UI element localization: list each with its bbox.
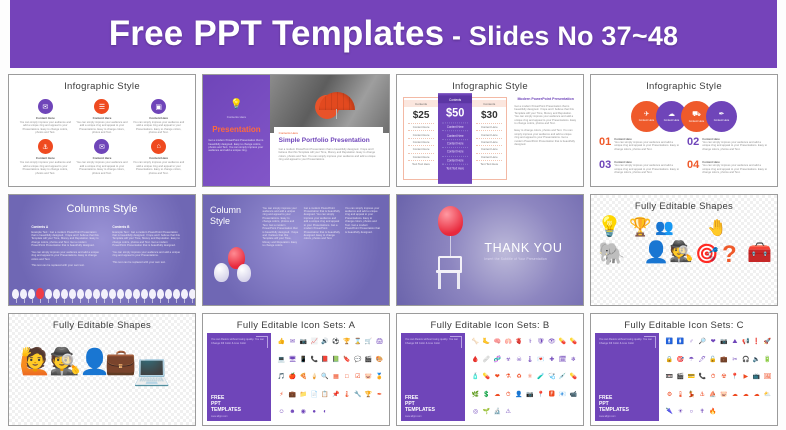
price-row: Content Here (476, 145, 502, 152)
man-with-briefcase-icon: 💼 (105, 350, 136, 375)
icon-cell: 🎯 (677, 357, 684, 363)
corner-decoration (256, 336, 268, 348)
white-balloon-icon (12, 289, 19, 299)
lightbulb-brain-icon: 💡 (597, 217, 622, 237)
price-value: $25 (413, 110, 430, 121)
card-title: Simple Portfolio Presentation (279, 137, 379, 145)
text-column-3: You can simply impress your audience and… (345, 207, 382, 298)
white-balloon-icon (101, 289, 108, 299)
price-row: Content Here (442, 139, 468, 147)
brand-card: You can Resize without losing quality. Y… (595, 333, 659, 421)
balloon-row (12, 283, 192, 299)
icon-cell: 🔎 (698, 339, 705, 345)
icon-cell: 🔬 (494, 409, 501, 415)
icon-cell: 🔈 (753, 357, 760, 363)
white-balloon-icon (53, 289, 60, 299)
icon-cell: 📹 (570, 392, 577, 398)
icon-cell: 📷 (526, 392, 533, 398)
icon-cell: ❤ (495, 374, 500, 380)
price-row: Content Here (442, 131, 468, 139)
infographic-item: ▣ Content HereYou can simply impress you… (130, 99, 187, 139)
icon-cell: 📗 (332, 357, 339, 363)
price-row: Content Here (442, 147, 468, 155)
icon-cell: 🐷 (365, 374, 372, 380)
icon-cell: 🎬 (677, 374, 684, 380)
icon-cell: 🔍 (321, 374, 328, 380)
corner-decoration (450, 336, 462, 348)
people-group-icon: 👥 (655, 220, 674, 235)
slide-title: Infographic Style (397, 81, 583, 92)
icon-cell: 🌡 (677, 392, 685, 398)
pricing-column-featured: Contents $50 Content Here Content Here C… (438, 93, 472, 183)
white-balloon-icon (133, 289, 140, 299)
icon-cell: 💊 (570, 374, 577, 380)
icon-cell: 📺 (753, 374, 760, 380)
side-caption: Contents Here (203, 115, 270, 119)
lightbulb-icon: 💡 (230, 99, 242, 110)
column-b-body2: You can simply impress your audience and… (112, 251, 180, 258)
icon-cell: 📧 (559, 392, 566, 398)
numbered-item: 04 Content HereYou can simply impress yo… (687, 160, 769, 181)
side-word: Presentation (203, 125, 270, 134)
title-line-2: Style (210, 216, 241, 227)
icon-cell: 🔋 (764, 357, 771, 363)
icon-cell: 🍦 (310, 374, 317, 380)
white-balloon-icon (141, 289, 148, 299)
slide-thumbnail-fully-editable-icon-sets-b[interactable]: Fully Editable Icon Sets: B You can Resi… (396, 313, 584, 426)
column-a-body2: You can simply impress your audience and… (31, 251, 99, 261)
icon-cell: 🧠 (494, 339, 501, 345)
home-icon: ⌂ (151, 139, 166, 154)
price-row: Text Text Here (476, 160, 502, 167)
icon-cell: 👍 (278, 339, 285, 345)
chat-icon: ✉ (38, 99, 53, 114)
mail-icon: ✉ (94, 139, 109, 154)
anchor-icon: ⚓ (38, 139, 53, 154)
slide-grid: Infographic Style ✉ Content HereYou can … (8, 74, 778, 426)
item-body: You can simply impress your audience and… (76, 161, 128, 175)
icon-cell: 💼 (720, 357, 727, 363)
businessman-icon: 👤 (643, 242, 669, 263)
icon-cell: 🫀 (515, 339, 522, 345)
portfolio-side-panel: 💡 Contents Here Presentation Get a moder… (203, 75, 270, 186)
item-body: You can simply impress your audience and… (614, 164, 681, 174)
slide-title: Fully Editable Shapes (591, 201, 777, 212)
icon-cell: ☢ (721, 374, 726, 380)
item-body: You can simply impress your audience and… (702, 164, 769, 174)
price-value: $30 (481, 110, 498, 121)
icon-cell: 📞 (310, 357, 317, 363)
icon-cell: 🛒 (365, 339, 372, 345)
column-b-body3: This text can be replaced with your own … (112, 261, 180, 264)
thank-you-subtitle: Insert the Subtitle of Your Presentation (484, 257, 562, 261)
icon-cell: 🌂 (666, 409, 673, 415)
icon-cell: ✝ (700, 409, 705, 415)
white-balloon-icon (61, 289, 68, 299)
column-b-head: Contents B (112, 225, 180, 229)
icon-cell: 💬 (354, 357, 361, 363)
white-balloon-icon (77, 289, 84, 299)
icon-cell: ☀ (678, 409, 683, 415)
slide-thumbnail-infographic-style-pricing[interactable]: Infographic Style Contents $25 Content H… (396, 74, 584, 187)
white-balloon-icon (109, 289, 116, 299)
text-column-1: You can simply impress your audience and… (263, 207, 300, 298)
icon-cell: 📕 (321, 357, 328, 363)
pricing-table: Contents $25 Content Here Content Here C… (403, 97, 507, 180)
chair-icon (436, 256, 462, 289)
white-balloon-icon (214, 263, 229, 282)
icon-cell: 🛡 (537, 339, 545, 345)
column-a-body: Example Text : Get a modern PowerPoint P… (31, 231, 99, 248)
icon-cell: 🩺 (548, 374, 555, 380)
pricing-side-text: Modern PowerPoint Presentation Get a mod… (511, 97, 577, 180)
item-label: Content Here (19, 156, 71, 160)
icon-cell: ✚ (549, 357, 554, 363)
icon-cell: 🔊 (321, 339, 328, 345)
column-header: Contents (472, 100, 506, 107)
brand-line-3: TEMPLATES (405, 407, 435, 413)
icon-cell: ♻ (516, 374, 521, 380)
icon-cell: 🦶 (483, 339, 490, 345)
slide-thumbnail-thank-you[interactable]: THANK YOU Insert the Subtitle of Your Pr… (396, 194, 584, 307)
page-title: Free PPT Templates - Slides No 37~48 (109, 14, 679, 54)
slide-thumbnail-simple-portfolio-presentation[interactable]: 💡 Contents Here Presentation Get a moder… (202, 74, 390, 187)
icon-cell: ⌛ (354, 339, 361, 345)
circle-row: ✈Content Here ☁Content Here ⛟Content Her… (613, 99, 754, 133)
slide-title: Column Style (210, 205, 241, 227)
item-label: Content Here (76, 156, 128, 160)
thank-you-title: THANK YOU (484, 241, 562, 255)
white-balloon-icon (237, 264, 251, 282)
icon-cell: 🌡 (343, 392, 351, 398)
icon-cell: 💉 (559, 374, 566, 380)
target-icon: 🎯 (695, 245, 719, 264)
item-body: You can simply impress your audience and… (702, 141, 769, 151)
item-number: 03 (599, 160, 611, 171)
white-balloon-icon (117, 289, 124, 299)
icon-cell: ♂ (689, 339, 694, 345)
item-body: You can simply impress your audience and… (19, 121, 71, 135)
icon-cell: ☠ (516, 357, 521, 363)
column-b-body: Example Text : Get a modern PowerPoint P… (112, 231, 180, 248)
white-balloon-icon (181, 289, 188, 299)
numbered-items: 01 Content HereYou can simply impress yo… (599, 137, 769, 182)
icon-cell: 🌿 (472, 392, 479, 398)
numbered-item: 02 Content HereYou can simply impress yo… (687, 137, 769, 158)
column-header: Contents (438, 95, 472, 103)
icon-cell: ☣ (506, 357, 511, 363)
side-body-2: Easy to change colors, photos and Text. … (514, 129, 577, 146)
white-balloon-icon (28, 289, 35, 299)
price-row: Text Text Here (442, 164, 468, 172)
icon-cell: ⚙ (667, 392, 672, 398)
price-row: Content Here (476, 138, 502, 145)
page-root: Free PPT Templates - Slides No 37~48 Inf… (0, 0, 786, 430)
price-row: Content Here (442, 122, 468, 130)
red-balloon-icon (36, 288, 44, 299)
red-balloon-icon (438, 206, 463, 236)
item-label: Content Here (133, 156, 185, 160)
white-balloon-icon (125, 289, 132, 299)
icon-cell: ◎ (473, 409, 478, 415)
side-body-1: Get a modern PowerPoint Presentation tha… (514, 105, 577, 125)
icon-cell: 💌 (537, 357, 544, 363)
shape-collection: 🙋 🕵 👤 💼 💻 (13, 334, 191, 422)
icon-cell: 📄 (310, 392, 317, 398)
white-balloon-icon (189, 289, 196, 299)
icon-cell: ✂ (732, 357, 737, 363)
icon-cell: 🩸 (472, 357, 479, 363)
icon-cell: ⚡ (279, 392, 283, 398)
icon-cell: 📞 (698, 374, 705, 380)
icon-cell: 🍕 (300, 374, 307, 380)
icon-cell: 🏆 (343, 339, 350, 345)
slide-title: Columns Style (9, 203, 195, 215)
price-row: Content Here (476, 130, 502, 137)
item-body: You can simply impress your audience and… (614, 141, 681, 151)
icon-cell: 🅵 (549, 392, 555, 398)
item-number: 04 (687, 160, 699, 171)
question-mark-icon: ? (722, 243, 737, 267)
numbered-item: 01 Content HereYou can simply impress yo… (599, 137, 681, 158)
icon-cell: ✉ (290, 339, 295, 345)
icon-cell: 📼 (666, 374, 673, 380)
icon-cell: ▦ (333, 374, 339, 380)
pricing-column: Contents $30 Content Here Content Here C… (472, 98, 506, 179)
slide-title: Fully Editable Icon Sets: A (203, 320, 389, 331)
column-header: Contents (404, 100, 438, 107)
price-row: Content Here (408, 153, 434, 160)
title-line-1: Column (210, 205, 241, 216)
hand-icon: 🤚 (707, 221, 727, 237)
icon-cell: ❤ (711, 339, 716, 345)
column-a: Contents A Example Text : Get a modern P… (31, 225, 99, 280)
icon-cell: 🔓 (709, 357, 716, 363)
icon-cell: ⚕ (528, 339, 531, 345)
white-balloon-icon (93, 289, 100, 299)
corner-decoration (644, 336, 656, 348)
price-row: Content Here (476, 123, 502, 130)
icon-cell: ✒ (377, 392, 382, 398)
laptop-icon: 💻 (133, 356, 170, 386)
icon-cell: 🌱 (483, 409, 490, 415)
column-b: Contents B Example Text : Get a modern P… (112, 225, 180, 280)
slide-thumbnail-infographic-style-numbers[interactable]: Infographic Style ✈Content Here ☁Content… (590, 74, 778, 187)
icon-cell: 🧬 (494, 357, 501, 363)
icon-cell: ☁ (732, 392, 738, 398)
price-row: Content Here (408, 130, 434, 137)
icon-cell: 🏆 (365, 392, 372, 398)
icon-cell: 🔒 (666, 357, 673, 363)
icon-cell: 🚺 (677, 339, 684, 345)
man-with-flag-icon: 🙋 (19, 348, 51, 374)
icon-cell: 💼 (289, 392, 296, 398)
slide-title: Infographic Style (591, 81, 777, 92)
slide-title: Fully Editable Icon Sets: C (591, 320, 777, 331)
icon-cell: 🖥 (289, 357, 297, 363)
price-row: Content Here (408, 123, 434, 130)
icon-cell: □ (345, 374, 349, 380)
icon-cell: 🩹 (483, 357, 490, 363)
infographic-item: ⌂ Content HereYou can simply impress you… (130, 139, 187, 179)
white-balloon-icon (173, 289, 180, 299)
icon-cell: 🎧 (742, 357, 749, 363)
column-a-head: Contents A (31, 225, 99, 229)
icon-cell: 🐷 (720, 392, 727, 398)
icon-grid: 👍✉📷📈🔊⚽🏆⌛🛒🖨💻🖥📱📞📕📗🔖💬🎬🎨🎵🍎🍕🍦🔍▦□☑🐷🏅⚡💼📁📄📋📌🌡🔧🏆✒… (276, 333, 385, 421)
slide-title: Fully Editable Shapes (9, 320, 195, 331)
icon-cell: 🍎 (289, 374, 296, 380)
icon-cell: ● (312, 409, 316, 415)
icon-cell: 🧪 (537, 374, 544, 380)
price-row: Text Text Here (408, 160, 434, 167)
icon-cell: 🗓 (559, 357, 567, 363)
card-url: www.allppt.com (211, 415, 228, 418)
white-balloon-icon (20, 289, 27, 299)
icon-cell: 📌 (332, 392, 339, 398)
slide-thumbnail-fully-editable-shapes-1[interactable]: Fully Editable Shapes 💡 🏆 👥 🤚 🐘 👤 🕵 🎯 ? … (590, 194, 778, 307)
icon-cell: 🏅 (376, 374, 383, 380)
white-balloon-icon (45, 289, 52, 299)
side-body: Get a modern PowerPoint Presentation tha… (208, 139, 264, 153)
icon-cell: 🦴 (472, 339, 479, 345)
man-with-telescope-icon: 🕵 (669, 242, 694, 262)
icon-cell: ☁ (754, 392, 760, 398)
icon-cell: 📷 (720, 339, 727, 345)
icon-cell: 🧴 (472, 374, 479, 380)
slide-thumbnail-column-style[interactable]: Column Style You can simply impress your… (202, 194, 390, 307)
icon-cell: ⚓ (700, 392, 705, 398)
icon-cell: 💲 (483, 392, 490, 398)
icon-cell: 💊 (483, 374, 490, 380)
icon-cell: ⚽ (332, 339, 339, 345)
icon-cell: 💳 (688, 374, 695, 380)
item-body: You can simply impress your audience and… (133, 121, 185, 135)
white-balloon-icon (157, 289, 164, 299)
icon-cell: ☺ (278, 409, 284, 415)
slide-thumbnail-fully-editable-icon-sets-a[interactable]: Fully Editable Icon Sets: A You can Resi… (202, 313, 390, 426)
price-value: $50 (446, 107, 464, 120)
slide-thumbnail-fully-editable-shapes-2[interactable]: Fully Editable Shapes 🙋 🕵 👤 💼 💻 (8, 313, 196, 426)
item-number: 02 (687, 137, 699, 148)
icon-cell: ☻ (289, 409, 295, 415)
slide-title: Fully Editable Icon Sets: B (397, 320, 583, 331)
icon-cell: 📍 (731, 374, 738, 380)
icon-cell: ○ (689, 409, 693, 415)
icon-cell: ◐ (323, 409, 327, 415)
price-row: Content Here (408, 138, 434, 145)
icon-cell: ☁ (494, 392, 500, 398)
icon-cell: 📍 (537, 392, 544, 398)
icon-cell: 🔥 (709, 409, 716, 415)
icon-cell: 🖊 (698, 357, 706, 363)
icon-cell: ⚛ (527, 374, 532, 380)
icon-cell: 👁 (548, 339, 556, 345)
price-row: Content Here (442, 155, 468, 163)
rocket-icon: ✒Content Here (706, 101, 737, 132)
balloon-group (212, 247, 266, 289)
icon-cell: ⚠ (506, 409, 511, 415)
card-brand: FREE PPT TEMPLATES (211, 395, 241, 413)
item-label: Content Here (76, 116, 128, 120)
item-body: You can simply impress your audience and… (133, 161, 185, 175)
brand-card: You can Resize without losing quality. Y… (207, 333, 271, 421)
portfolio-card: Contents Here Simple Portfolio Presentat… (274, 127, 384, 182)
icon-cell: ⛰ (732, 339, 737, 345)
icon-cell: 📈 (310, 339, 317, 345)
icon-cell: ⚗ (506, 374, 511, 380)
column-a-body3: This text can be replaced with your own … (31, 264, 99, 267)
card-brand: FREE PPT TEMPLATES (599, 395, 629, 413)
umbrella-photo (270, 75, 389, 133)
slide-thumbnail-infographic-style-circles[interactable]: Infographic Style ✉ Content HereYou can … (8, 74, 196, 187)
icon-cell: 📱 (300, 357, 307, 363)
icon-cell: 💊 (570, 339, 577, 345)
item-label: Content Here (133, 116, 185, 120)
trophy-icon: 🏆 (629, 218, 651, 236)
text-column-2: Get a modern PowerPoint Presentation tha… (304, 207, 341, 298)
brand-card: You can Resize without losing quality. Y… (401, 333, 465, 421)
icon-cell: ☂ (689, 357, 694, 363)
icon-cell: ❄ (571, 357, 576, 363)
pricing-column: Contents $25 Content Here Content Here C… (404, 98, 438, 179)
white-balloon-icon (69, 289, 76, 299)
red-umbrella-icon (319, 92, 355, 110)
side-title: Modern PowerPoint Presentation (514, 97, 577, 102)
item-body: You can simply impress your audience and… (76, 121, 128, 135)
icon-cell: 📢 (742, 339, 749, 345)
infographic-item: ✉ Content HereYou can simply impress you… (74, 139, 131, 179)
page-title-sub: - Slides No 37~48 (444, 21, 678, 51)
icon-cell: 👤 (515, 392, 522, 398)
icon-cell: ◉ (301, 409, 306, 415)
icon-cell: 📋 (321, 392, 328, 398)
infographic-item: ✉ Content HereYou can simply impress you… (17, 99, 74, 139)
icon-cell: 🖨 (376, 339, 384, 345)
icon-cell: ☁ (743, 392, 749, 398)
icon-cell: 💊 (559, 339, 566, 345)
icon-cell: 📷 (300, 339, 307, 345)
icon-cell: 🚹 (666, 339, 673, 345)
slide-thumbnail-fully-editable-icon-sets-c[interactable]: Fully Editable Icon Sets: C You can Resi… (590, 313, 778, 426)
brand-line-3: TEMPLATES (211, 407, 241, 413)
icon-cell: 🫁 (504, 339, 511, 345)
icon-cell: ⛵ (709, 392, 716, 398)
icon-cell: 🔖 (343, 357, 350, 363)
shape-collection: 💡 🏆 👥 🤚 🐘 👤 🕵 🎯 ? 🧰 (595, 215, 773, 303)
infographic-item: ☰ Content HereYou can simply impress you… (74, 99, 131, 139)
image-icon: ▣ (151, 99, 166, 114)
brand-line-3: TEMPLATES (599, 407, 629, 413)
card-body: Get a modern PowerPoint Presentation tha… (279, 148, 379, 162)
slide-thumbnail-columns-style[interactable]: Columns Style Contents A Example Text : … (8, 194, 196, 307)
card-url: www.allppt.com (405, 415, 422, 418)
icon-cell: 🔧 (354, 392, 361, 398)
card-brand: FREE PPT TEMPLATES (405, 395, 435, 413)
icon-cell: 💃 (688, 392, 695, 398)
page-title-main: Free PPT Templates (109, 14, 445, 53)
icon-cell: ⛅ (764, 392, 771, 398)
item-body: You can simply impress your audience and… (19, 161, 71, 175)
infographic-item: ⚓ Content HereYou can simply impress you… (17, 139, 74, 179)
ladder-icon: 🧰 (747, 243, 772, 263)
item-label: Content Here (19, 116, 71, 120)
elephant-icon: 🐘 (598, 243, 625, 265)
icon-cell: 🚀 (764, 339, 771, 345)
film-icon: ☰ (94, 99, 109, 114)
icon-cell: 🌡 (526, 357, 534, 363)
item-number: 01 (599, 137, 611, 148)
